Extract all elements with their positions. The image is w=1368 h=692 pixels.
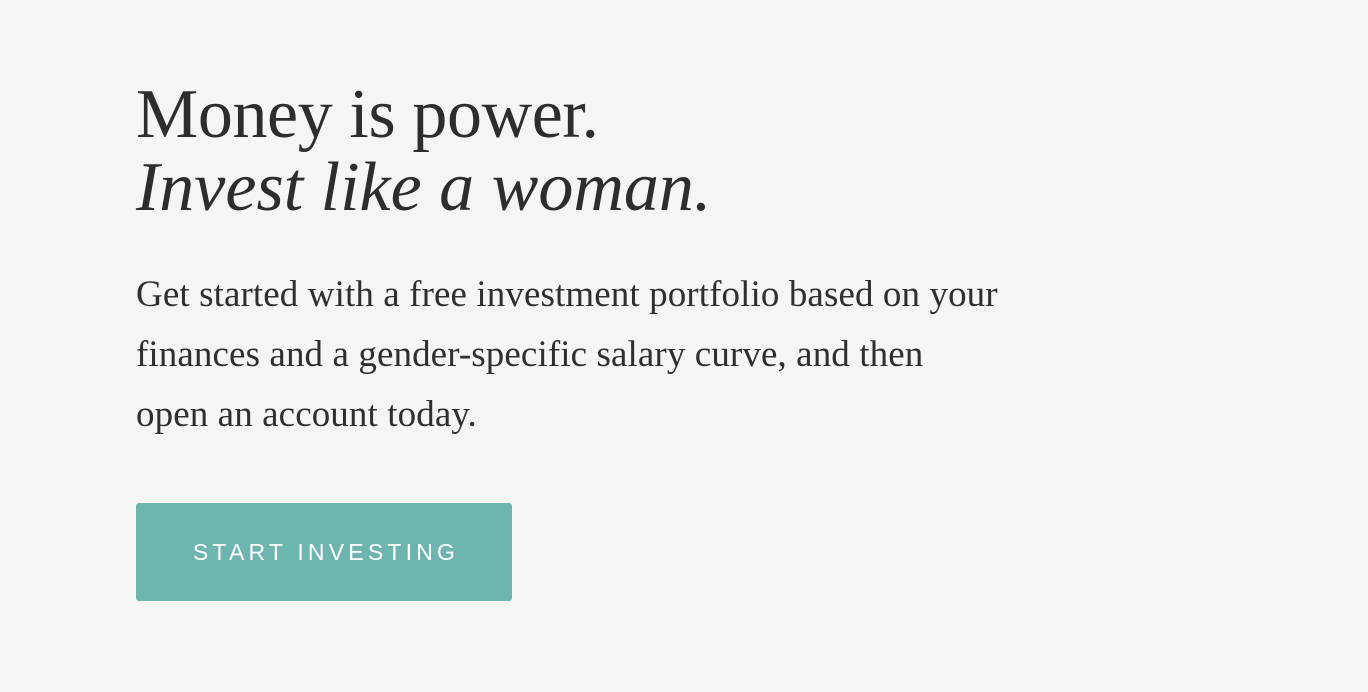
- hero-description-line-3: open an account today.: [136, 385, 1246, 445]
- headline-line-primary: Money is power.: [136, 78, 1236, 151]
- hero-description: Get started with a free investment portf…: [136, 265, 1246, 445]
- hero-description-line-2: finances and a gender-specific salary cu…: [136, 325, 1246, 385]
- hero-description-line-1: Get started with a free investment portf…: [136, 265, 1246, 325]
- start-investing-button-label: Start Investing: [189, 541, 459, 564]
- start-investing-button[interactable]: Start Investing: [136, 503, 512, 601]
- headline-line-emphasis: Invest like a woman.: [136, 151, 1236, 224]
- page-title: Money is power. Invest like a woman.: [136, 78, 1236, 224]
- hero-section: Money is power. Invest like a woman. Get…: [0, 0, 1368, 692]
